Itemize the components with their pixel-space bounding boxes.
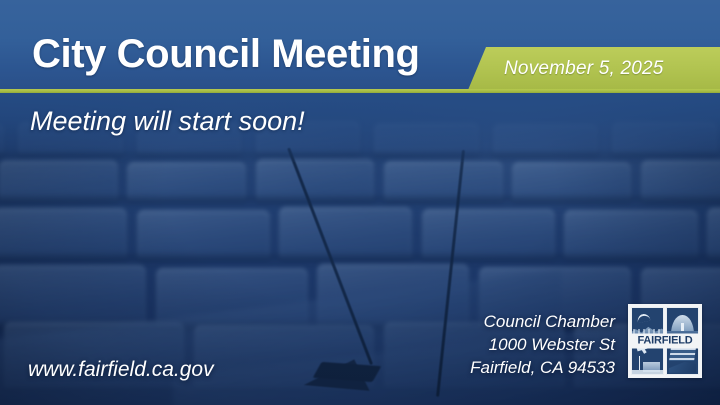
date-badge-label: November 5, 2025 [504,58,664,80]
header-divider-rule [0,89,720,93]
page-title: City Council Meeting [32,30,420,78]
logo-wordmark: FAIRFIELD [637,336,692,347]
date-badge: November 5, 2025 [468,47,720,90]
logo-wordmark-band: FAIRFIELD [631,334,699,349]
location-line-street: 1000 Webster St [470,333,615,356]
status-message: Meeting will start soon! [30,104,305,138]
website-url[interactable]: www.fairfield.ca.gov [28,358,214,382]
location-line-citystate: Fairfield, CA 94533 [470,356,615,379]
meeting-slide: November 5, 2025 City Council Meeting Me… [0,0,720,405]
location-line-venue: Council Chamber [470,310,615,333]
location-block: Council Chamber 1000 Webster St Fairfiel… [470,310,615,379]
logo-panel-grid: FAIRFIELD [631,307,699,375]
fairfield-city-logo: FAIRFIELD [628,304,702,378]
